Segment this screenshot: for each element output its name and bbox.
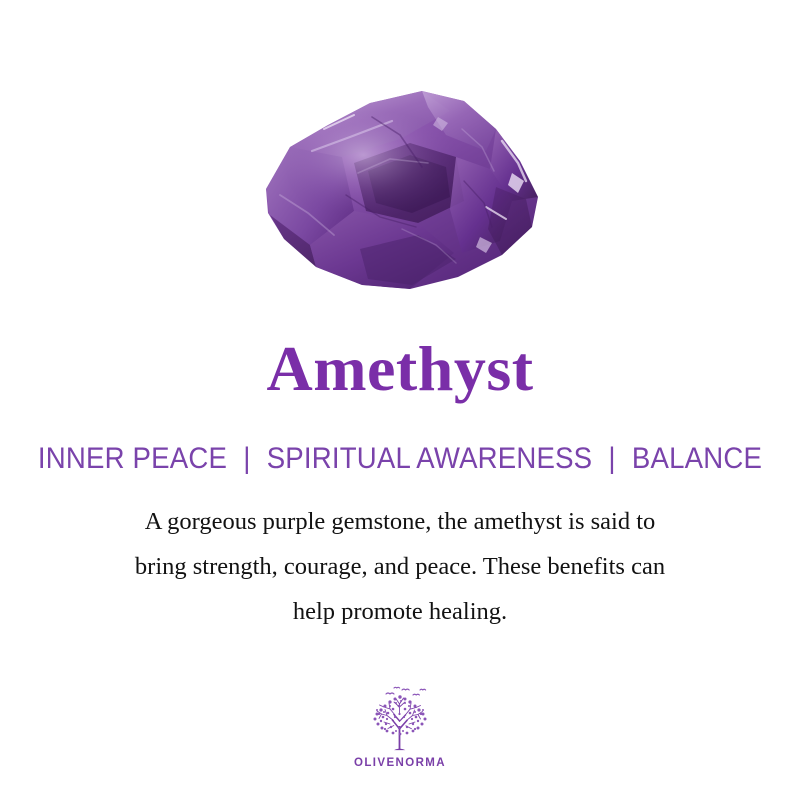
- gemstone-description: A gorgeous purple gemstone, the amethyst…: [50, 499, 750, 634]
- description-line: help promote healing.: [50, 589, 750, 634]
- keyword-balance: BALANCE: [632, 442, 762, 475]
- raw-amethyst-crystal-icon: [250, 77, 550, 297]
- keyword-spiritual-awareness: SPIRITUAL AWARENESS: [267, 442, 593, 475]
- description-line: A gorgeous purple gemstone, the amethyst…: [50, 499, 750, 544]
- brand-name: OLIVENORMA: [354, 757, 446, 769]
- brand-logo: OLIVENORMA: [0, 684, 800, 769]
- gemstone-keywords: INNER PEACE | SPIRITUAL AWARENESS | BALA…: [32, 441, 768, 477]
- tree-of-life-with-birds-icon: [357, 684, 443, 754]
- description-line: bring strength, courage, and peace. Thes…: [50, 544, 750, 589]
- gemstone-title: Amethyst: [0, 332, 800, 406]
- amethyst-product-card: Amethyst INNER PEACE | SPIRITUAL AWARENE…: [0, 0, 800, 800]
- gemstone-image-container: [0, 74, 800, 300]
- keyword-separator: |: [600, 441, 624, 477]
- keyword-separator: |: [235, 441, 259, 477]
- keyword-inner-peace: INNER PEACE: [38, 442, 227, 475]
